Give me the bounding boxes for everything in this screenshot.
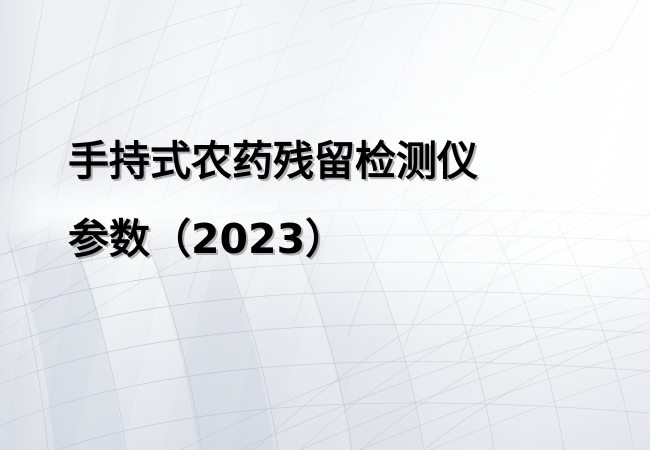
product-title-banner: 手持式农药残留检测仪 参数（2023） [0, 0, 650, 450]
title-line-2: 参数（2023） [68, 200, 608, 278]
title-line-1: 手持式农药残留检测仪 [68, 122, 608, 200]
page-title: 手持式农药残留检测仪 参数（2023） [68, 122, 608, 278]
